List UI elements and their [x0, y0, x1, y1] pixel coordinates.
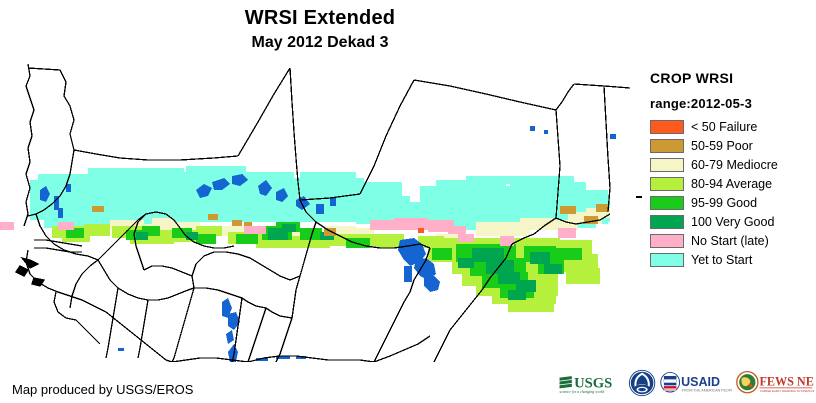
legend-item-average[interactable]: 80-94 Average [650, 175, 816, 193]
usgs-tagline: science for a changing world [560, 390, 605, 394]
logo-strip: USGS science for a changing world USAID … [558, 366, 814, 400]
legend-swatch-failure [650, 120, 684, 134]
map-credit: Map produced by USGS/EROS [12, 382, 193, 397]
legend-label-yet-to-start: Yet to Start [691, 253, 752, 267]
usgs-wave-mark [560, 376, 572, 388]
legend-item-no-start-late[interactable]: No Start (late) [650, 232, 816, 250]
usgs-wordmark: USGS [574, 376, 612, 392]
legend-item-good[interactable]: 95-99 Good [650, 194, 816, 212]
usaid-tagline: FROM THE AMERICAN PEOPLE [682, 389, 732, 393]
legend-swatch-no-start-late [650, 234, 684, 248]
legend-swatch-poor [650, 139, 684, 153]
legend-item-failure[interactable]: < 50 Failure [650, 118, 816, 136]
legend-item-poor[interactable]: 50-59 Poor [650, 137, 816, 155]
fews-globe-icon [737, 372, 758, 393]
legend-range-label: range:2012-05-3 [650, 96, 816, 111]
page-subtitle: May 2012 Dekad 3 [0, 33, 640, 53]
legend-item-mediocre[interactable]: 60-79 Mediocre [650, 156, 816, 174]
legend-swatch-yet-to-start [650, 253, 684, 267]
legend-heading: CROP WRSI [650, 70, 816, 86]
legend-label-failure: < 50 Failure [691, 120, 757, 134]
legend-swatch-average [650, 177, 684, 191]
legend-item-very-good[interactable]: 100 Very Good [650, 213, 816, 231]
legend-swatch-mediocre [650, 158, 684, 172]
legend-label-no-start-late: No Start (late) [691, 234, 769, 248]
fews-net-tagline: FAMINE EARLY WARNING SYSTEMS NETWORK [761, 389, 814, 393]
usaid-wordmark: USAID [681, 375, 720, 389]
legend-label-poor: 50-59 Poor [691, 139, 753, 153]
legend-tick-mark [636, 196, 642, 198]
legend-swatch-good [650, 196, 684, 210]
usaid-seal-icon [661, 372, 680, 392]
usgs-logo[interactable]: USGS science for a changing world [558, 368, 624, 398]
fews-net-logo[interactable]: FEWS NET FAMINE EARLY WARNING SYSTEMS NE… [736, 368, 814, 398]
legend-swatch-very-good [650, 215, 684, 229]
noaa-logo[interactable] [628, 368, 656, 398]
usaid-logo[interactable]: USAID FROM THE AMERICAN PEOPLE [660, 368, 732, 398]
map-legend: CROP WRSI range:2012-05-3 < 50 Failure 5… [650, 70, 816, 270]
fews-net-wordmark: FEWS NET [760, 374, 814, 388]
page-title: WRSI Extended [0, 6, 640, 30]
map-raster[interactable] [0, 62, 640, 362]
legend-label-average: 80-94 Average [691, 177, 772, 191]
legend-label-mediocre: 60-79 Mediocre [691, 158, 778, 172]
legend-label-very-good: 100 Very Good [691, 215, 774, 229]
legend-label-good: 95-99 Good [691, 196, 757, 210]
legend-item-list: < 50 Failure 50-59 Poor 60-79 Mediocre 8… [650, 118, 816, 269]
map-panel[interactable] [0, 62, 640, 362]
legend-item-yet-to-start[interactable]: Yet to Start [650, 251, 816, 269]
title-block: WRSI Extended May 2012 Dekad 3 [0, 6, 640, 53]
class-failure [418, 228, 424, 233]
